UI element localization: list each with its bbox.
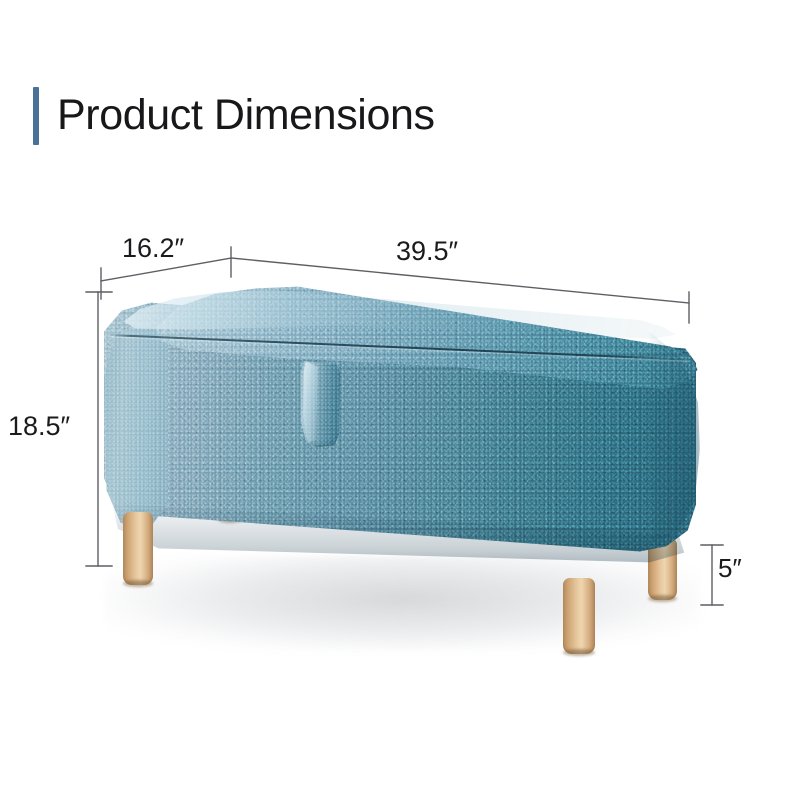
- bench-leg-front-left: [123, 512, 153, 585]
- product-dimensions-image: Product Dimensions: [0, 0, 800, 800]
- floor-shadow: [105, 556, 700, 651]
- bench-illustration: [0, 0, 800, 800]
- depth-label: 16.2″: [122, 233, 184, 264]
- bench-lid-seam-line: [108, 334, 690, 361]
- width-label: 39.5″: [396, 236, 458, 267]
- height-label: 18.5″: [8, 411, 70, 442]
- bench-leg-front-right: [563, 578, 595, 654]
- bench-lid-seam: [108, 334, 688, 392]
- leg-height-label: 5″: [718, 553, 742, 584]
